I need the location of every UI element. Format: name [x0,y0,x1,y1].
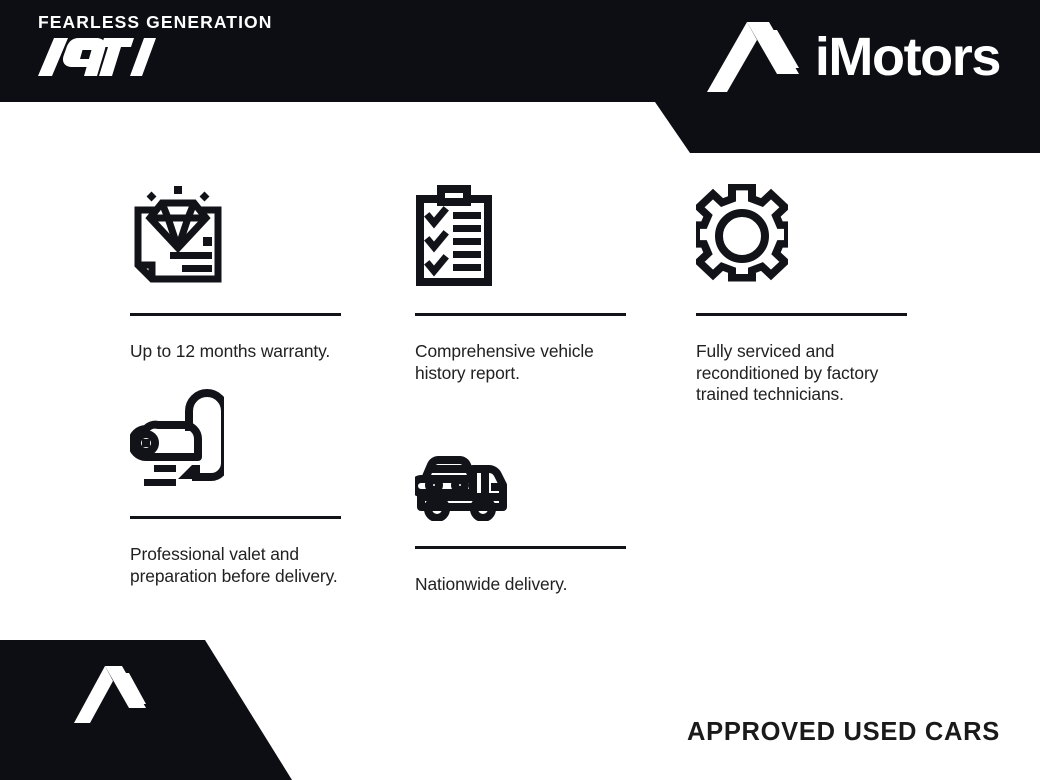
feature-divider [415,313,626,316]
car-transporter-truck-icon [415,411,630,521]
feature-text: Up to 12 months warranty. [130,341,345,363]
gear-cog-icon [696,178,911,288]
header-tagline: FEARLESS GENERATION [38,14,272,32]
feature-card: Fully serviced and reconditioned by fact… [696,178,911,406]
feature-divider [130,313,341,316]
promo-page: FEARLESS GENERATION [0,0,1040,780]
fearless-generation-brand: FEARLESS GENERATION [38,14,272,78]
feature-text: Nationwide delivery. [415,574,630,596]
imotors-chevron-mark [707,22,799,92]
warranty-certificate-icon [130,178,345,288]
footer-background-shape [0,640,340,780]
footer-tagline: APPROVED USED CARS [687,718,1000,747]
vacuum-cleaner-icon [130,381,345,491]
header: FEARLESS GENERATION [0,0,1040,104]
imotors-wordmark: iMotors [815,30,1000,84]
feature-divider [696,313,907,316]
feature-card: Up to 12 months warranty. [130,178,345,363]
1971-slanted-logo [38,36,156,78]
feature-card: Comprehensive vehicle history report. [415,178,630,384]
feature-card: Professional valet and preparation befor… [130,381,345,587]
feature-text: Comprehensive vehicle history report. [415,341,630,384]
feature-divider [415,546,626,549]
feature-text: Fully serviced and reconditioned by fact… [696,341,911,406]
imotors-logo: iMotors [707,22,1000,92]
feature-card: Nationwide delivery. [415,411,630,596]
feature-divider [130,516,341,519]
imotors-chevron-mark [74,666,146,758]
feature-text: Professional valet and preparation befor… [130,544,345,587]
clipboard-checklist-icon [415,178,630,288]
